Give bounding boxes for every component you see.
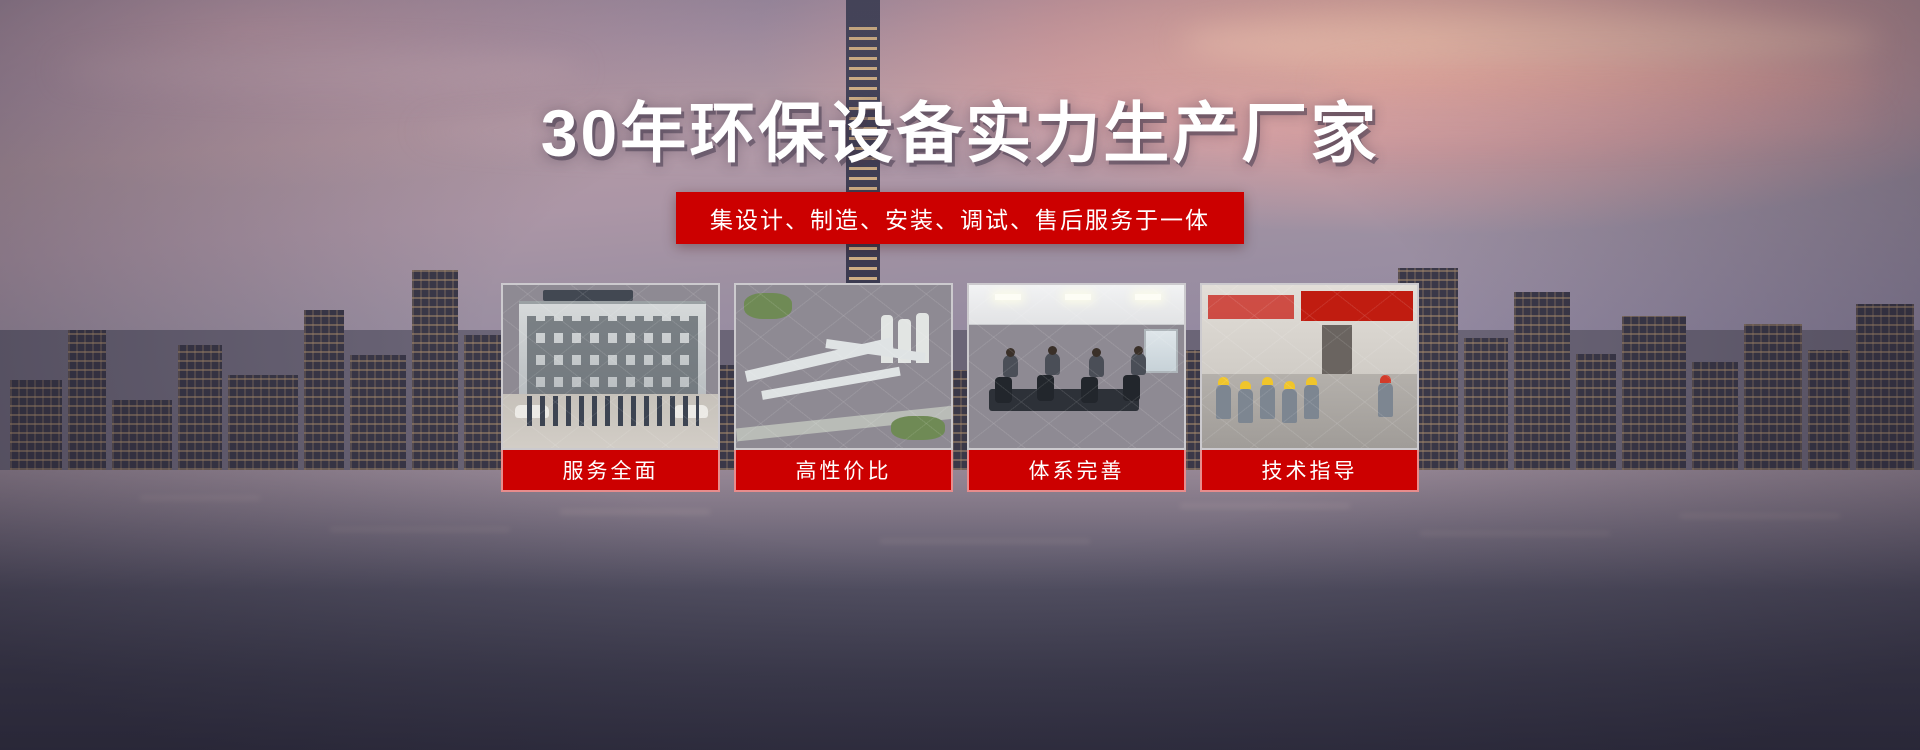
card-caption: 高性价比 [734, 450, 953, 492]
card-photo-office-building [501, 283, 720, 450]
hero-banner: 30年环保设备实力生产厂家 集设计、制造、安装、调试、售后服务于一体 服务全面 [0, 0, 1920, 750]
card-photo-workshop-team [1200, 283, 1419, 450]
feature-card[interactable]: 高性价比 [734, 283, 953, 492]
feature-card[interactable]: 技术指导 [1200, 283, 1419, 492]
card-photo-factory-aerial [734, 283, 953, 450]
card-caption: 服务全面 [501, 450, 720, 492]
feature-card-list: 服务全面 高性价比 [501, 283, 1419, 492]
page-title: 30年环保设备实力生产厂家 [0, 100, 1920, 166]
feature-card[interactable]: 体系完善 [967, 283, 1186, 492]
subtitle-banner: 集设计、制造、安装、调试、售后服务于一体 [676, 192, 1244, 244]
feature-card[interactable]: 服务全面 [501, 283, 720, 492]
card-caption: 体系完善 [967, 450, 1186, 492]
card-photo-meeting-room [967, 283, 1186, 450]
card-caption: 技术指导 [1200, 450, 1419, 492]
